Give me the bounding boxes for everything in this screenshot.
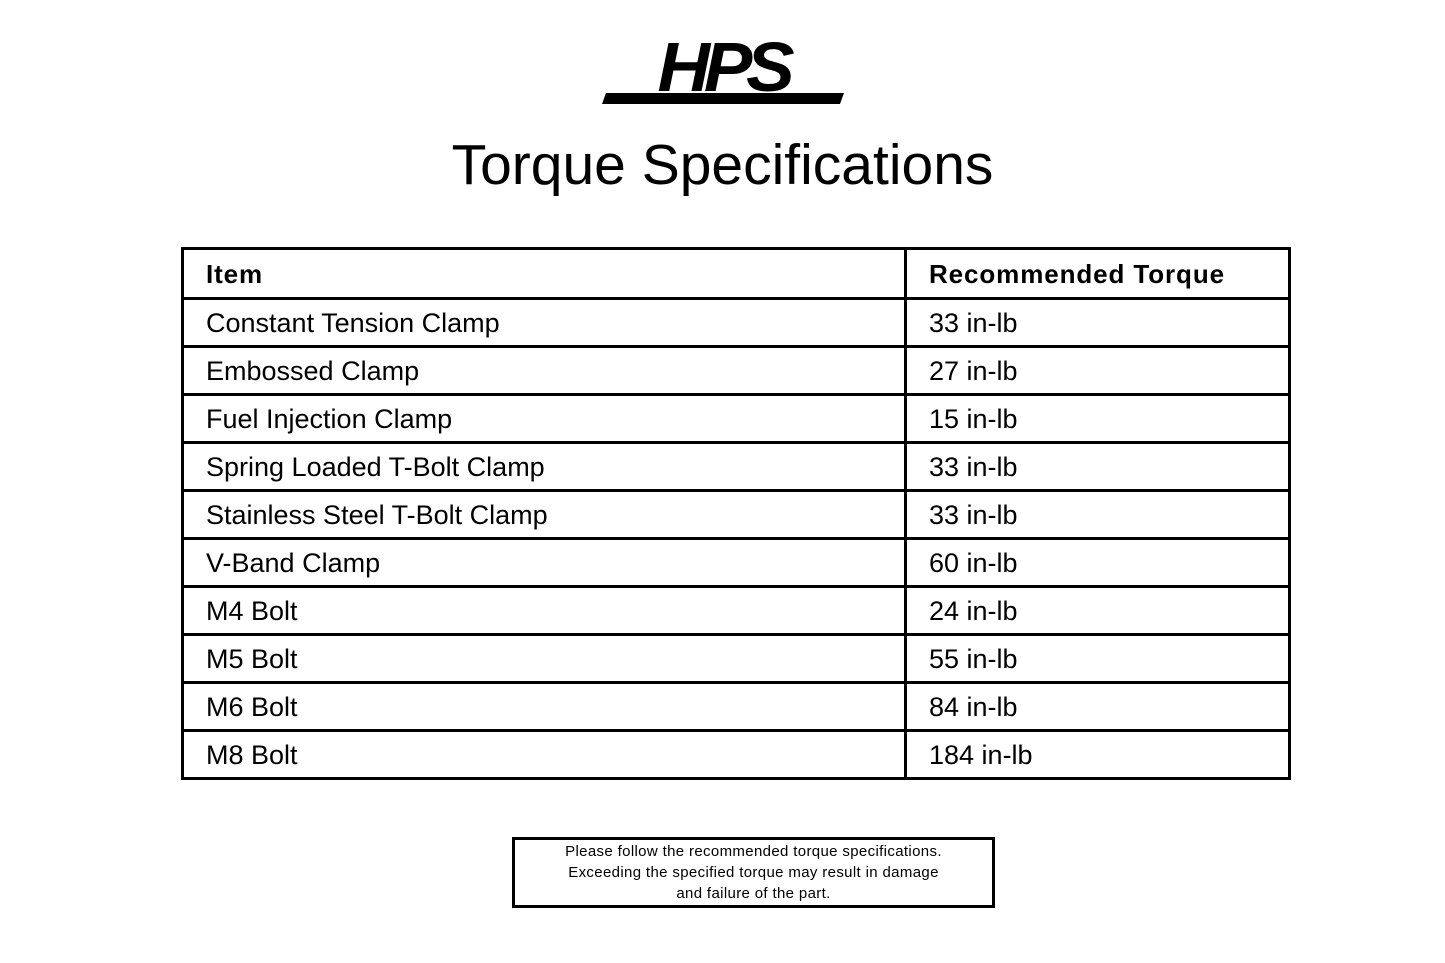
cell-item: Stainless Steel T-Bolt Clamp (183, 491, 906, 539)
table-row: Embossed Clamp 27 in-lb (183, 347, 1290, 395)
hps-logo-underbar (601, 93, 843, 104)
cell-torque: 33 in-lb (906, 443, 1290, 491)
cell-item: Fuel Injection Clamp (183, 395, 906, 443)
brand-logo: HPS (0, 32, 1445, 110)
table-header: Item Recommended Torque (183, 249, 1290, 299)
torque-spec-table: Item Recommended Torque Constant Tension… (181, 247, 1291, 780)
torque-spec-table-container: Item Recommended Torque Constant Tension… (181, 247, 1288, 780)
column-header-item: Item (183, 249, 906, 299)
note-line: and failure of the part. (676, 883, 830, 904)
table-row: M4 Bolt 24 in-lb (183, 587, 1290, 635)
note-line: Please follow the recommended torque spe… (565, 841, 942, 862)
cell-torque: 33 in-lb (906, 491, 1290, 539)
cell-torque: 27 in-lb (906, 347, 1290, 395)
cell-item: M5 Bolt (183, 635, 906, 683)
table-row: V-Band Clamp 60 in-lb (183, 539, 1290, 587)
cell-item: M8 Bolt (183, 731, 906, 779)
cell-torque: 84 in-lb (906, 683, 1290, 731)
table-row: M5 Bolt 55 in-lb (183, 635, 1290, 683)
note-line: Exceeding the specified torque may resul… (568, 862, 939, 883)
cell-torque: 184 in-lb (906, 731, 1290, 779)
table-row: Fuel Injection Clamp 15 in-lb (183, 395, 1290, 443)
table-row: M8 Bolt 184 in-lb (183, 731, 1290, 779)
column-header-torque: Recommended Torque (906, 249, 1290, 299)
table-row: Spring Loaded T-Bolt Clamp 33 in-lb (183, 443, 1290, 491)
cell-torque: 24 in-lb (906, 587, 1290, 635)
page-title: Torque Specifications (0, 132, 1445, 198)
table-row: M6 Bolt 84 in-lb (183, 683, 1290, 731)
cell-torque: 33 in-lb (906, 299, 1290, 347)
cell-item: M4 Bolt (183, 587, 906, 635)
cell-item: Constant Tension Clamp (183, 299, 906, 347)
table-body: Constant Tension Clamp 33 in-lb Embossed… (183, 299, 1290, 779)
cell-item: Embossed Clamp (183, 347, 906, 395)
table-row: Stainless Steel T-Bolt Clamp 33 in-lb (183, 491, 1290, 539)
cell-torque: 15 in-lb (906, 395, 1290, 443)
cell-torque: 60 in-lb (906, 539, 1290, 587)
table-header-row: Item Recommended Torque (183, 249, 1290, 299)
cell-item: Spring Loaded T-Bolt Clamp (183, 443, 906, 491)
cell-torque: 55 in-lb (906, 635, 1290, 683)
warning-note-box: Please follow the recommended torque spe… (512, 837, 995, 908)
cell-item: V-Band Clamp (183, 539, 906, 587)
table-row: Constant Tension Clamp 33 in-lb (183, 299, 1290, 347)
cell-item: M6 Bolt (183, 683, 906, 731)
hps-logo: HPS (598, 32, 848, 110)
